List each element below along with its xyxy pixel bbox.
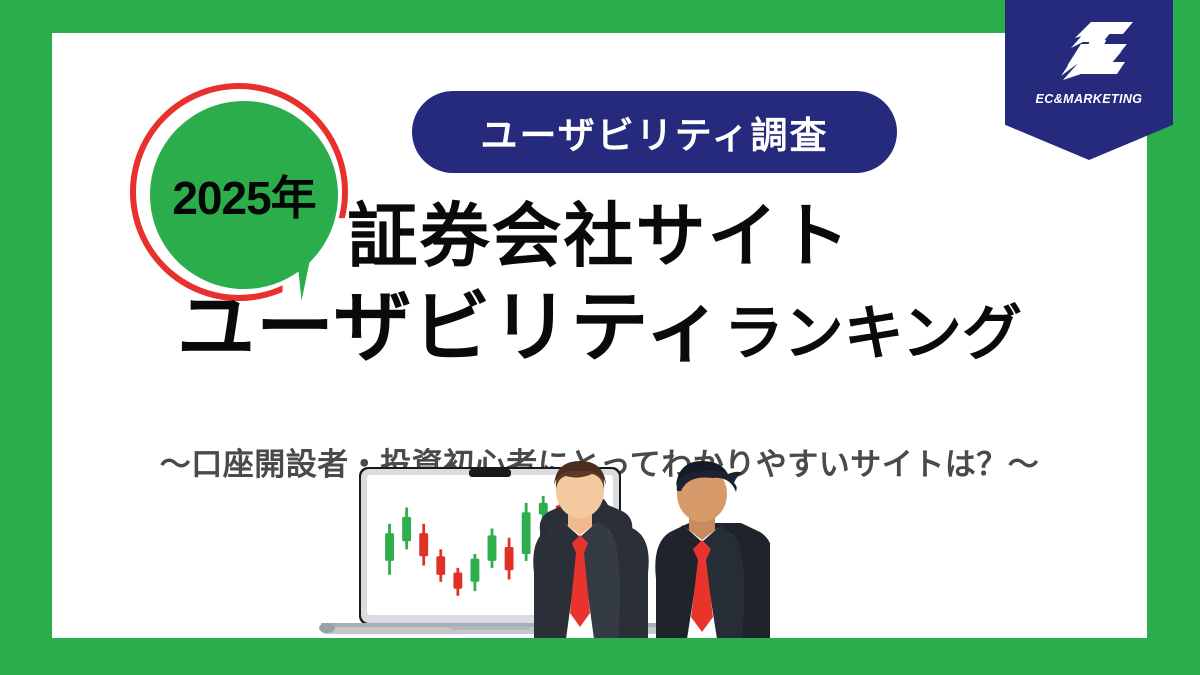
company-wordmark: EC&MARKETING bbox=[1036, 92, 1143, 106]
businessmen-svg bbox=[510, 461, 770, 638]
businessman-right bbox=[655, 461, 770, 638]
candle-body bbox=[453, 573, 462, 589]
candle-body bbox=[419, 533, 428, 556]
businessman-left bbox=[533, 461, 648, 638]
businessmen-illustration bbox=[510, 461, 770, 638]
candle-body bbox=[402, 517, 411, 541]
page-title-line-2-main: ユーザビリティ bbox=[177, 283, 724, 371]
page-title-line-1: 証券会社サイト bbox=[52, 199, 1147, 275]
poster-canvas: 2025年 ユーザビリティ調査 証券会社サイト ユーザビリティランキング ～口座… bbox=[0, 0, 1200, 675]
content-card: 2025年 ユーザビリティ調査 証券会社サイト ユーザビリティランキング ～口座… bbox=[52, 33, 1147, 638]
headline-block: 証券会社サイト ユーザビリティランキング bbox=[52, 199, 1147, 369]
survey-badge: ユーザビリティ調査 bbox=[412, 91, 897, 173]
candle-body bbox=[488, 535, 497, 561]
candle-body bbox=[385, 533, 394, 561]
page-title-line-2-suffix: ランキング bbox=[724, 300, 1022, 367]
survey-badge-label: ユーザビリティ調査 bbox=[480, 105, 828, 159]
page-title-line-2: ユーザビリティランキング bbox=[52, 285, 1147, 369]
ec-monogram-icon bbox=[1041, 18, 1137, 90]
candle-body bbox=[436, 556, 445, 575]
candle-body bbox=[470, 559, 479, 582]
